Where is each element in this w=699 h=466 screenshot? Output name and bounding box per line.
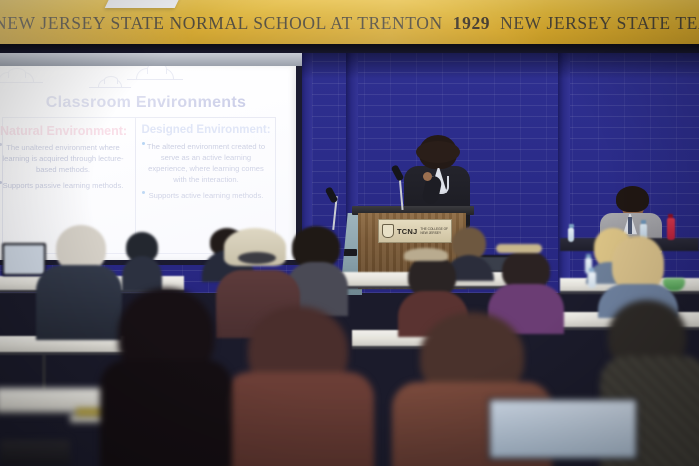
plaque-logo-text: TCNJ — [397, 227, 417, 236]
audience-member — [122, 232, 162, 292]
photo-scene: NEW JERSEY STATE NORMAL SCHOOL AT TRENTO… — [0, 0, 699, 466]
cloud-icon — [0, 72, 34, 82]
screen-roller-bar — [0, 53, 302, 66]
slide-bullet: Supports active learning methods. — [145, 190, 267, 201]
banner-segment-1: NEW JERSEY STATE NORMAL SCHOOL AT TRENTO… — [0, 13, 443, 33]
cloud-icon — [98, 79, 122, 87]
college-seal-icon — [382, 224, 394, 238]
slide-column-designed: Designed Environment: The altered enviro… — [141, 124, 271, 206]
audience-member — [100, 288, 232, 466]
cap-brim — [238, 252, 276, 264]
column-heading: Natural Environment: — [0, 124, 128, 138]
hair-clip-icon — [404, 248, 448, 261]
bullet-text: The altered environment created to serve… — [147, 142, 265, 184]
bullet-dot-icon — [142, 191, 145, 194]
water-bottle-icon — [588, 272, 596, 288]
banner-year: 1929 — [443, 13, 500, 33]
banner-segment-2: NEW JERSEY STATE TEACHERS COLLEGE AND — [500, 13, 699, 33]
water-bottle-icon — [568, 228, 574, 242]
speaker-hand — [423, 172, 432, 181]
table-leg — [42, 350, 46, 390]
column-heading: Designed Environment: — [141, 124, 271, 137]
slide-bullet: The altered environment created to serve… — [145, 141, 267, 185]
slide-bullet: The unaltered environment where learning… — [2, 142, 124, 175]
audience-member — [224, 306, 374, 466]
banner-under-shadow — [0, 44, 699, 53]
headband-icon — [496, 244, 542, 253]
banner-text: NEW JERSEY STATE NORMAL SCHOOL AT TRENTO… — [0, 13, 699, 34]
panelist-hair — [616, 186, 649, 212]
slide-bullet: Supports passive learning methods. — [2, 180, 124, 191]
ceiling-panel — [105, 0, 192, 8]
slide-title: Classroom Environments — [0, 94, 296, 112]
bullet-text: Supports active learning methods. — [149, 191, 264, 200]
laptop-icon — [488, 398, 638, 460]
bullet-dot-icon — [0, 143, 2, 146]
bullet-text: The unaltered environment where learning… — [2, 143, 123, 174]
slide-column-natural: Natural Environment: The unaltered envir… — [0, 124, 128, 196]
cloud-icon — [136, 68, 174, 79]
bullet-dot-icon — [142, 142, 145, 145]
bullet-text: Supports passive learning methods. — [3, 181, 124, 190]
speaker-hair — [419, 135, 457, 169]
podium-plaque: TCNJ THE COLLEGE OF NEW JERSEY — [378, 219, 452, 243]
foreground-surface — [0, 440, 70, 466]
history-banner: NEW JERSEY STATE NORMAL SCHOOL AT TRENTO… — [0, 0, 699, 44]
